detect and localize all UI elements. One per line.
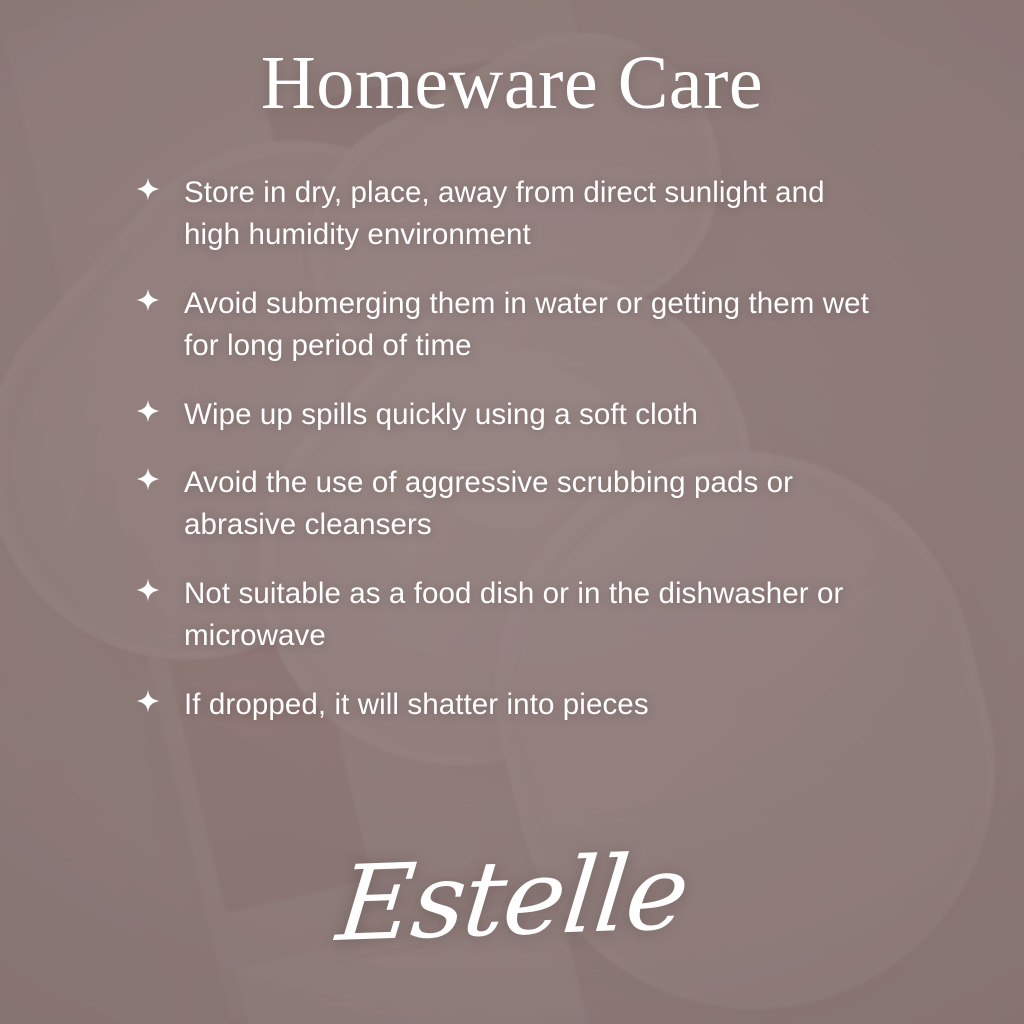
list-item-label: Not suitable as a food dish or in the di… bbox=[184, 573, 884, 657]
card-content: Homeware Care Store in dry, place, away … bbox=[0, 0, 1024, 1024]
sparkle-icon bbox=[136, 288, 160, 312]
list-item-label: Wipe up spills quickly using a soft clot… bbox=[184, 394, 698, 436]
list-item: Avoid the use of aggressive scrubbing pa… bbox=[136, 462, 954, 546]
care-instruction-list: Store in dry, place, away from direct su… bbox=[136, 172, 954, 726]
sparkle-icon bbox=[136, 399, 160, 423]
brand-signature-text: Estelle bbox=[332, 840, 691, 956]
list-item-label: If dropped, it will shatter into pieces bbox=[184, 684, 649, 726]
list-item: If dropped, it will shatter into pieces bbox=[136, 684, 954, 726]
sparkle-icon bbox=[136, 578, 160, 602]
homeware-care-card: L K THE HOME ISSUE More than the sum of … bbox=[0, 0, 1024, 1024]
page-title: Homeware Care bbox=[0, 44, 1024, 124]
list-item: Store in dry, place, away from direct su… bbox=[136, 172, 954, 256]
sparkle-icon bbox=[136, 467, 160, 491]
list-item-label: Avoid the use of aggressive scrubbing pa… bbox=[184, 462, 884, 546]
list-item: Wipe up spills quickly using a soft clot… bbox=[136, 394, 954, 436]
brand-signature: Estelle bbox=[0, 846, 1024, 950]
list-item-label: Avoid submerging them in water or gettin… bbox=[184, 283, 884, 367]
list-item: Not suitable as a food dish or in the di… bbox=[136, 573, 954, 657]
sparkle-icon bbox=[136, 177, 160, 201]
sparkle-icon bbox=[136, 689, 160, 713]
list-item-label: Store in dry, place, away from direct su… bbox=[184, 172, 884, 256]
list-item: Avoid submerging them in water or gettin… bbox=[136, 283, 954, 367]
